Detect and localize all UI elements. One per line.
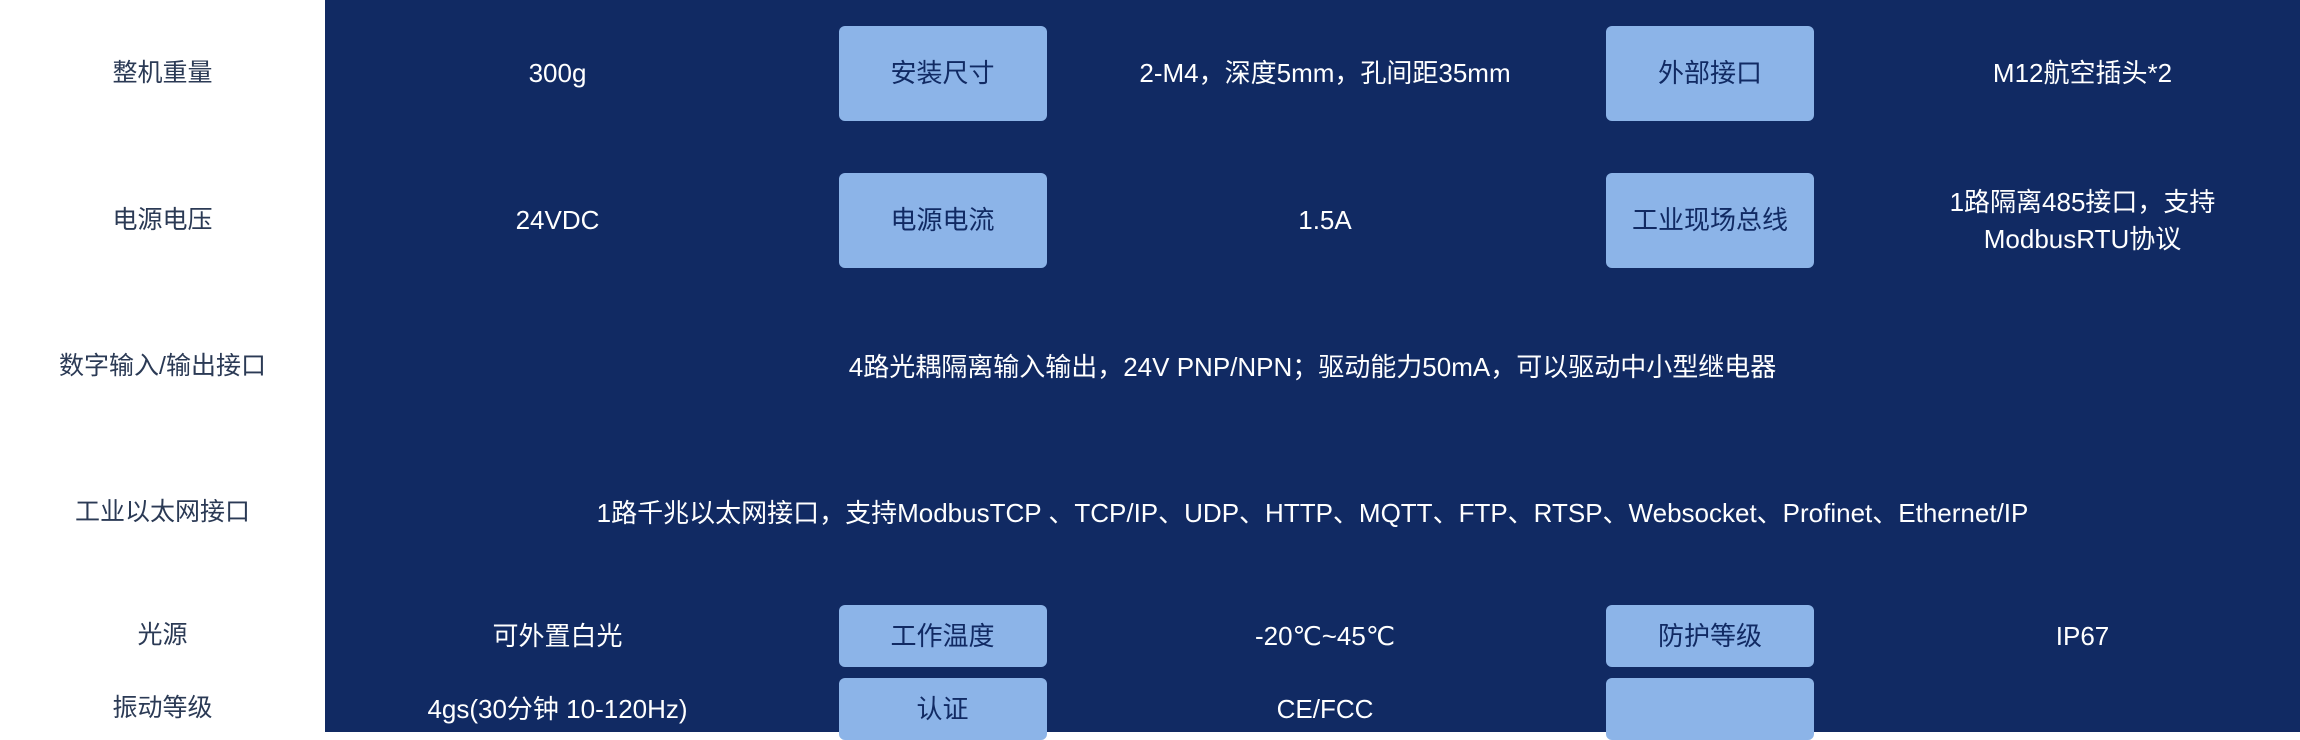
spec-row-tile: 防护等级 xyxy=(1555,586,1865,686)
spec-row-value: 可外置白光 xyxy=(325,586,790,686)
spec-row-value xyxy=(1865,686,2300,732)
spec-tile-label xyxy=(1606,678,1814,740)
specification-table: 整机重量 300g 安装尺寸 2-M4，深度5mm，孔间距35mm 外部接口 M… xyxy=(0,0,2300,732)
spec-tile-label: 工作温度 xyxy=(839,605,1047,667)
spec-tile-label: 外部接口 xyxy=(1606,26,1814,121)
spec-row-value: 24VDC xyxy=(325,147,790,294)
spec-tile-label: 防护等级 xyxy=(1606,605,1814,667)
spec-row-fullvalue: 4路光耦隔离输入输出，24V PNP/NPN；驱动能力50mA，可以驱动中小型继… xyxy=(325,294,2300,440)
spec-row-label: 振动等级 xyxy=(0,686,325,732)
spec-row-label: 光源 xyxy=(0,586,325,686)
spec-row-value: 300g xyxy=(325,0,790,147)
spec-row-label: 电源电压 xyxy=(0,147,325,294)
spec-row-tile-empty xyxy=(1555,686,1865,732)
spec-row-tile: 认证 xyxy=(790,686,1095,732)
spec-row-value: 2-M4，深度5mm，孔间距35mm xyxy=(1095,0,1555,147)
spec-tile-label: 认证 xyxy=(839,678,1047,740)
spec-row-label: 整机重量 xyxy=(0,0,325,147)
spec-row-value: 1路隔离485接口，支持ModbusRTU协议 xyxy=(1865,147,2300,294)
spec-row-value: -20℃~45℃ xyxy=(1095,586,1555,686)
spec-row-tile: 工业现场总线 xyxy=(1555,147,1865,294)
spec-tile-label: 电源电流 xyxy=(839,173,1047,268)
spec-row-value: M12航空插头*2 xyxy=(1865,0,2300,147)
spec-tile-label: 安装尺寸 xyxy=(839,26,1047,121)
spec-grid: 整机重量 300g 安装尺寸 2-M4，深度5mm，孔间距35mm 外部接口 M… xyxy=(0,0,2300,732)
spec-row-value: CE/FCC xyxy=(1095,686,1555,732)
spec-row-label: 数字输入/输出接口 xyxy=(0,294,325,440)
spec-row-value: IP67 xyxy=(1865,586,2300,686)
spec-row-fullvalue: 1路千兆以太网接口，支持ModbusTCP 、TCP/IP、UDP、HTTP、M… xyxy=(325,440,2300,586)
spec-row-tile: 外部接口 xyxy=(1555,0,1865,147)
spec-row-label: 工业以太网接口 xyxy=(0,440,325,586)
spec-row-value: 1.5A xyxy=(1095,147,1555,294)
spec-tile-label: 工业现场总线 xyxy=(1606,173,1814,268)
spec-row-tile: 电源电流 xyxy=(790,147,1095,294)
spec-row-tile: 工作温度 xyxy=(790,586,1095,686)
spec-row-value: 4gs(30分钟 10-120Hz) xyxy=(325,686,790,732)
spec-row-tile: 安装尺寸 xyxy=(790,0,1095,147)
